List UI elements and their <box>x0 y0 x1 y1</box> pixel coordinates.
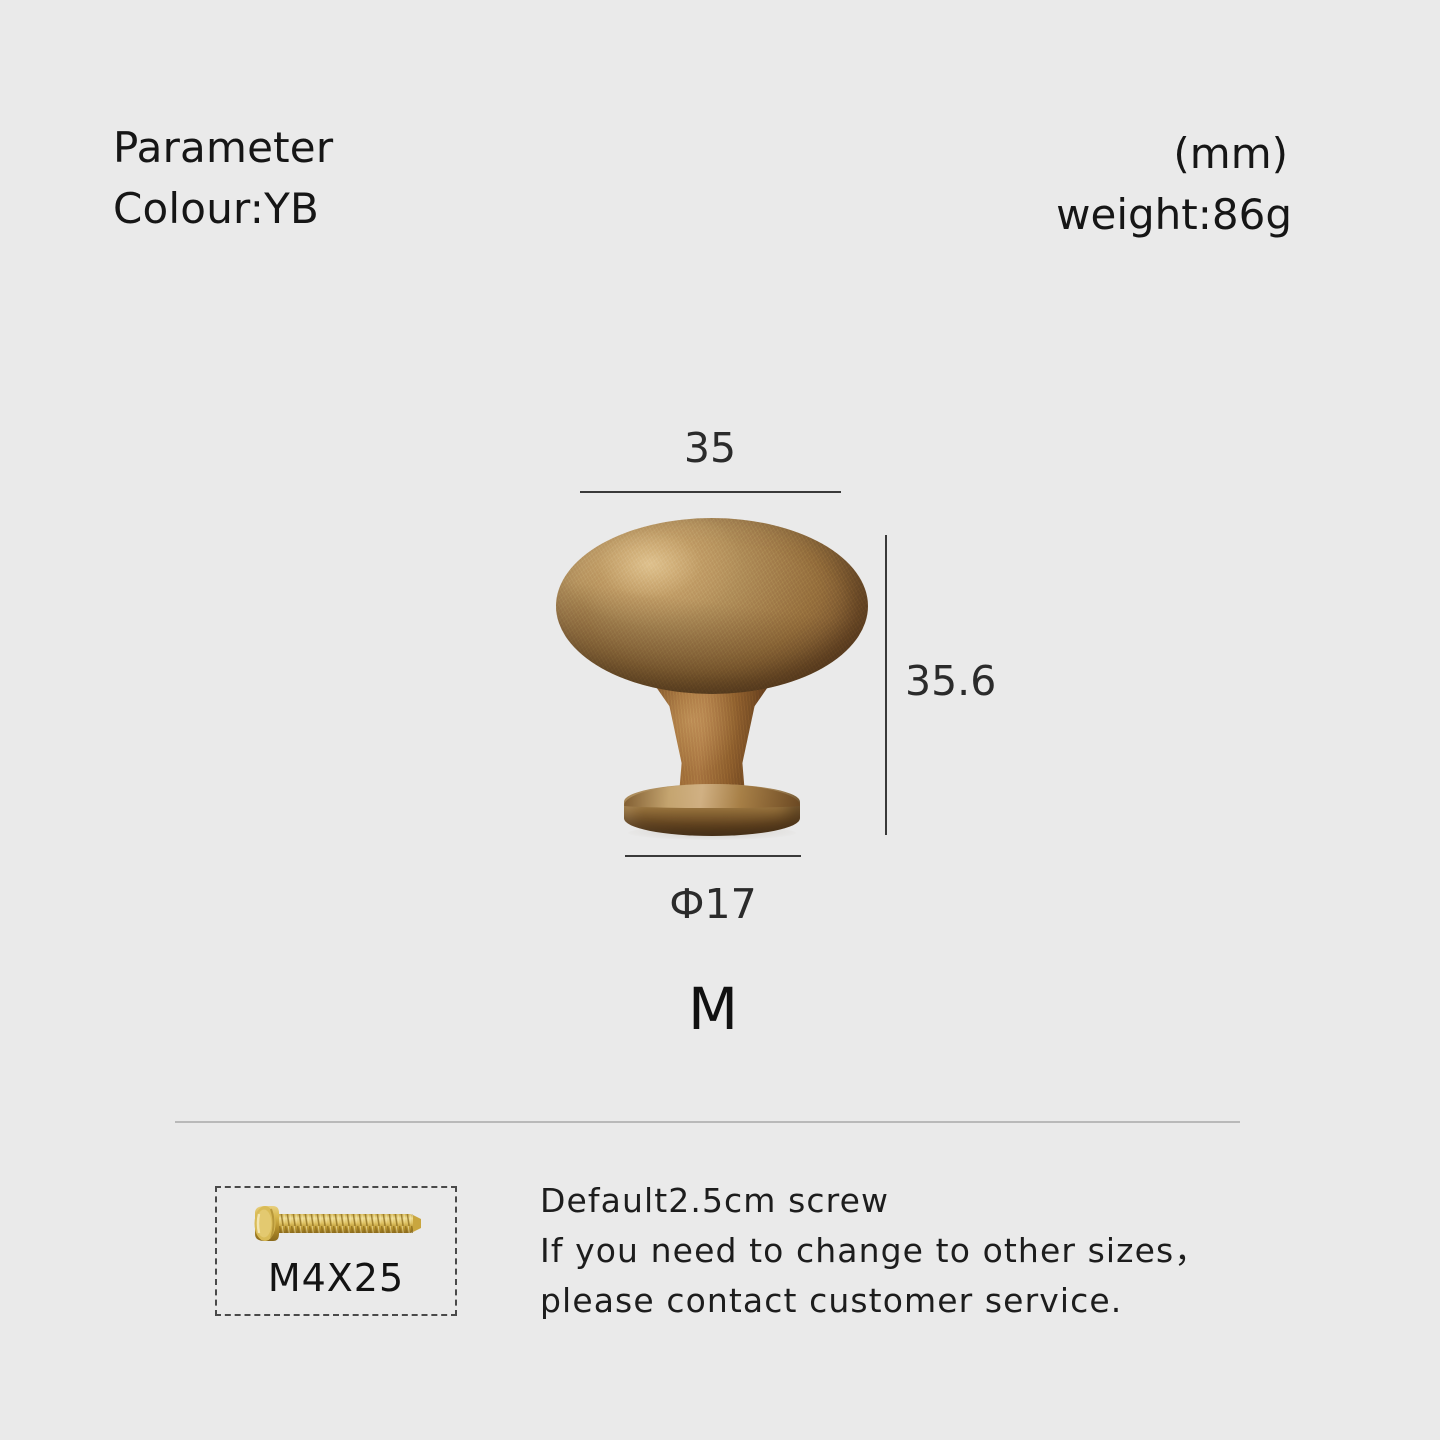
knob-dome-shading <box>556 518 868 694</box>
screw-note: Default2.5cm screw If you need to change… <box>540 1176 1208 1326</box>
dimension-diagram: 35 35.6 Ф17 M <box>0 0 1440 1100</box>
dimension-rule-height <box>885 535 887 835</box>
screw-icon <box>243 1202 429 1248</box>
knob-base-top-surface <box>624 784 800 808</box>
knob-product-image <box>552 518 872 840</box>
section-divider <box>175 1121 1240 1123</box>
knob-dome <box>556 518 868 694</box>
knob-base-flange <box>624 784 800 836</box>
screw-note-line-2: If you need to change to other sizes， <box>540 1226 1208 1276</box>
screw-note-line-3: please contact customer service. <box>540 1276 1208 1326</box>
screw-spec-box: M4X25 <box>215 1186 457 1316</box>
dimension-rule-base <box>625 855 801 857</box>
dimension-label-height: 35.6 <box>905 657 996 705</box>
screw-note-line-1: Default2.5cm screw <box>540 1176 1208 1226</box>
dimension-label-base-diameter: Ф17 <box>595 880 831 928</box>
dimension-rule-width <box>580 491 841 493</box>
size-designation-label: M <box>593 975 833 1043</box>
dimension-label-width: 35 <box>580 424 840 472</box>
screw-size-label: M4X25 <box>217 1256 455 1300</box>
